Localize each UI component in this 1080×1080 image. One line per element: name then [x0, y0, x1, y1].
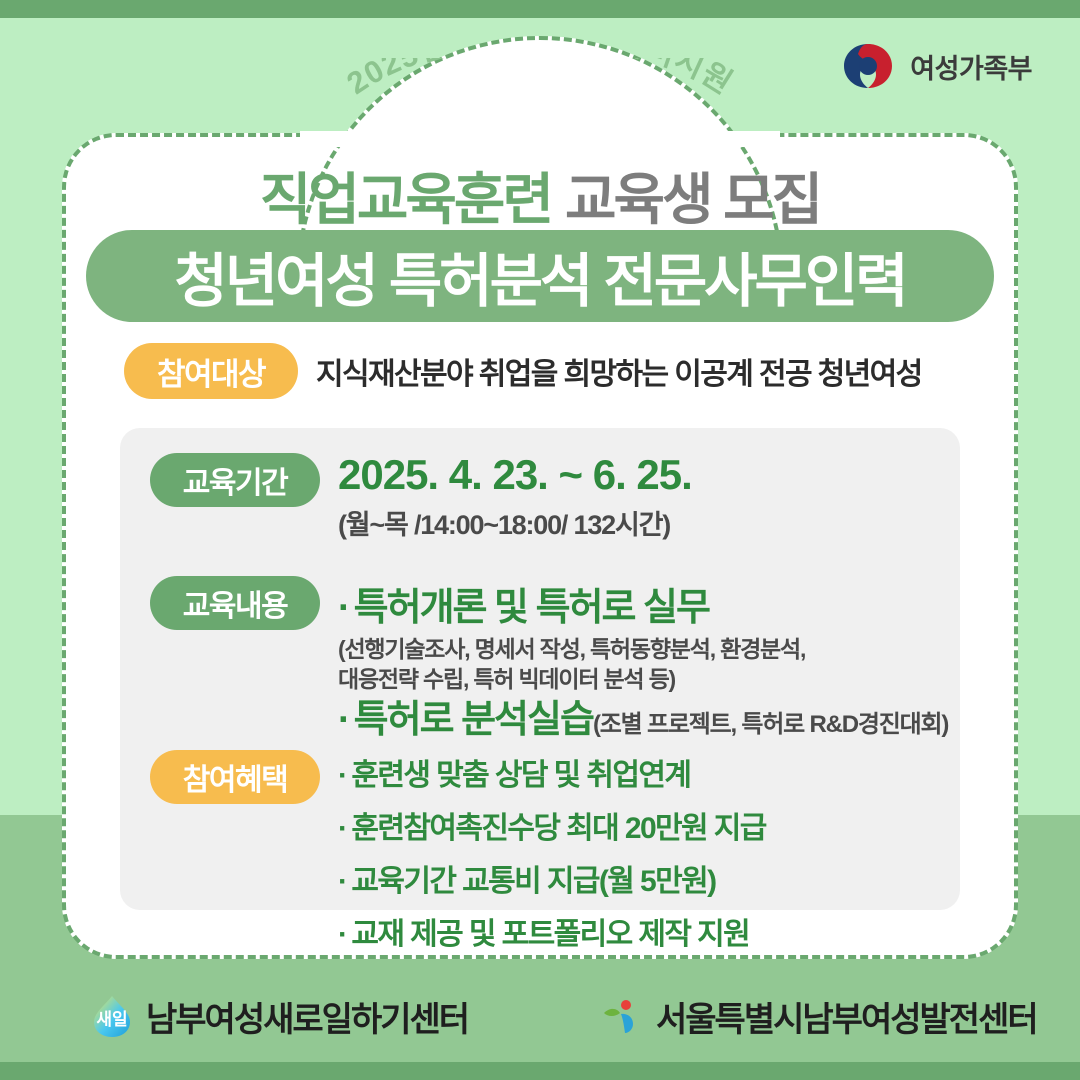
card-content: 직업교육훈련교육생 모집 청년여성 특허분석 전문사무인력 참여대상 지식재산분… [62, 133, 1018, 959]
curriculum-label-pill: 교육내용 [150, 576, 320, 630]
benefit-item-label: 교재 제공 및 포트폴리오 제작 지원 [351, 918, 749, 951]
target-label-pill: 참여대상 [124, 343, 298, 399]
period-section: 교육기간 2025. 4. 23. ~ 6. 25. (월~목 /14:00~1… [150, 453, 692, 542]
ministry-name-label: 여성가족부 [910, 47, 1032, 86]
title-green-part: 직업교육훈련 [260, 168, 551, 231]
svg-text:2025년 여성가족부 국비지원: 2025년 여성가족부 국비지원 [341, 58, 739, 101]
curriculum-item1-detail-line1: (선행기술조사, 명세서 작성, 특허동향분석, 환경분석, [338, 635, 805, 665]
benefit-item-label: 교육기간 교통비 지급(월 5만원) [351, 865, 715, 898]
target-row: 참여대상 지식재산분야 취업을 희망하는 이공계 전공 청년여성 [124, 343, 922, 399]
bullet-icon: · [338, 865, 346, 898]
benefit-item: ·교재 제공 및 포트폴리오 제작 지원 [338, 909, 766, 953]
benefit-item: ·훈련참여촉진수당 최대 20만원 지급 [338, 803, 766, 847]
bullet-icon: · [338, 918, 346, 951]
curriculum-item-1: ·특허개론 및 특허로 실무 (선행기술조사, 명세서 작성, 특허동향분석, … [338, 576, 805, 695]
seoul-city-symbol-icon [600, 993, 646, 1039]
curriculum-item1-title: 특허개론 및 특허로 실무 [354, 587, 709, 629]
footer-right-name: 서울특별시남부여성발전센터 [656, 992, 1037, 1041]
period-detail: (월~목 /14:00~18:00/ 132시간) [338, 503, 692, 542]
footer: 새일 남부여성새로일하기센터 서울특별시남부여성발전센터 [0, 985, 1080, 1047]
benefit-item-label: 훈련생 맞춤 상담 및 취업연계 [351, 759, 690, 792]
curriculum-item2-row: ·특허로 분석실습 [338, 688, 593, 743]
bullet-icon: · [338, 699, 349, 741]
footer-left-org: 새일 남부여성새로일하기센터 [88, 992, 468, 1041]
target-description: 지식재산분야 취업을 희망하는 이공계 전공 청년여성 [316, 349, 922, 393]
benefits-list: ·훈련생 맞춤 상담 및 취업연계 ·훈련참여촉진수당 최대 20만원 지급 ·… [338, 750, 766, 953]
headline-banner: 청년여성 특허분석 전문사무인력 [86, 230, 994, 322]
benefits-section: 참여혜택 ·훈련생 맞춤 상담 및 취업연계 ·훈련참여촉진수당 최대 20만원… [150, 750, 766, 953]
poster-root: 2025년 여성가족부 국비지원 여성가족부 직업교육훈련교육생 모집 청년여성… [0, 0, 1080, 1080]
period-dates: 2025. 4. 23. ~ 6. 25. [338, 453, 692, 497]
curriculum-item2-detail: (조별 프로젝트, 특허로 R&D경진대회) [593, 704, 948, 739]
headline-text: 청년여성 특허분석 전문사무인력 [174, 234, 905, 318]
period-values: 2025. 4. 23. ~ 6. 25. (월~목 /14:00~18:00/… [338, 453, 692, 542]
benefit-item: ·교육기간 교통비 지급(월 5만원) [338, 856, 766, 900]
ribbon-text-label: 2025년 여성가족부 국비지원 [341, 58, 739, 101]
bullet-icon: · [338, 587, 349, 629]
page-title: 직업교육훈련교육생 모집 [62, 155, 1018, 236]
curriculum-section: 교육내용 ·특허개론 및 특허로 실무 (선행기술조사, 명세서 작성, 특허동… [150, 576, 805, 695]
period-label-pill: 교육기간 [150, 453, 320, 507]
svg-text:새일: 새일 [96, 1010, 127, 1029]
title-gray-part: 교육생 모집 [565, 168, 820, 231]
footer-right-org: 서울특별시남부여성발전센터 [600, 992, 1037, 1041]
curriculum-item-2: ·특허로 분석실습 (조별 프로젝트, 특허로 R&D경진대회) [338, 688, 948, 743]
benefit-item: ·훈련생 맞춤 상담 및 취업연계 [338, 750, 766, 794]
ministry-logo-block: 여성가족부 [840, 38, 1032, 94]
bottom-border-band [0, 1062, 1080, 1080]
footer-left-name: 남부여성새로일하기센터 [146, 992, 468, 1041]
bullet-icon: · [338, 759, 346, 792]
saeil-droplet-logo-icon: 새일 [88, 992, 136, 1040]
benefits-label-pill: 참여혜택 [150, 750, 320, 804]
benefit-item-label: 훈련참여촉진수당 최대 20만원 지급 [351, 812, 765, 845]
bullet-icon: · [338, 812, 346, 845]
curriculum-item1-row: ·특허개론 및 특허로 실무 [338, 576, 805, 631]
top-border-band [0, 0, 1080, 18]
curriculum-item2-title: 특허로 분석실습 [354, 699, 593, 741]
korea-government-taegeuk-icon [840, 38, 896, 94]
